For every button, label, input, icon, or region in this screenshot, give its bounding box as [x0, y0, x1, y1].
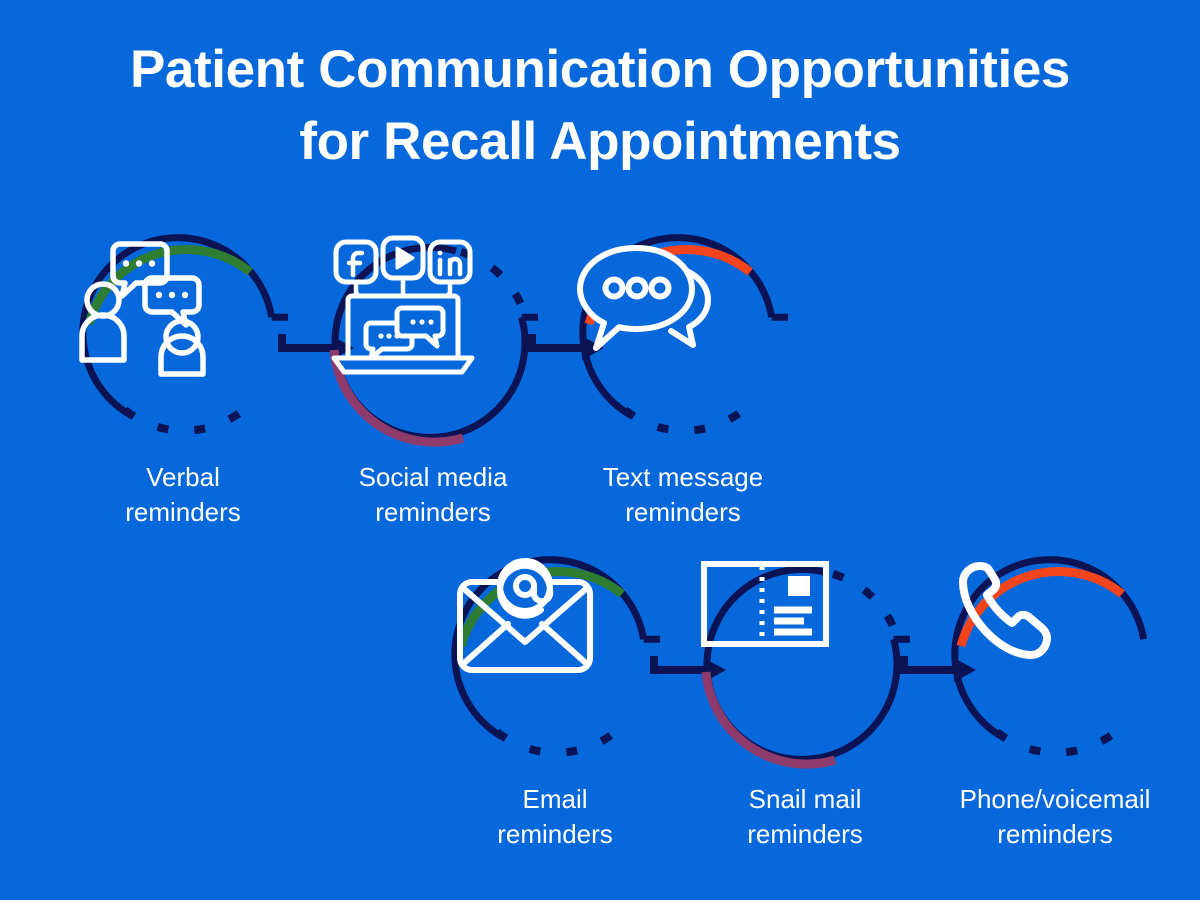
node-label-social-media: Social media reminders	[328, 460, 538, 529]
page-title-line-1: Patient Communication Opportunities	[0, 34, 1200, 106]
icon-laptop-social-badges	[328, 238, 538, 448]
page-title-line-2: for Recall Appointments	[0, 106, 1200, 178]
node-phone-voicemail-reminders[interactable]: Phone/voicemail reminders	[900, 560, 1110, 851]
node-label-verbal: Verbal reminders	[78, 460, 288, 529]
ring-phone-voicemail	[950, 560, 1160, 770]
node-label-email: Email reminders	[450, 782, 660, 851]
ring-email	[450, 560, 660, 770]
node-social-media-reminders[interactable]: Social media reminders	[328, 238, 538, 529]
ring-text-message	[578, 238, 788, 448]
icon-phone-handset	[950, 560, 1160, 770]
node-snail-mail-reminders[interactable]: Snail mail reminders	[700, 560, 910, 851]
icon-people-speech-bubbles	[78, 238, 288, 448]
node-verbal-reminders[interactable]: Verbal reminders	[78, 238, 288, 529]
node-text-message-reminders[interactable]: Text message reminders	[578, 238, 788, 529]
node-label-text-message: Text message reminders	[578, 460, 788, 529]
node-label-phone-voicemail: Phone/voicemail reminders	[925, 782, 1185, 851]
icon-postcard	[700, 560, 910, 770]
icon-chat-bubbles-dots	[578, 238, 788, 448]
node-label-snail-mail: Snail mail reminders	[700, 782, 910, 851]
icon-envelope-at	[450, 560, 660, 770]
ring-snail-mail	[700, 560, 910, 770]
node-email-reminders[interactable]: Email reminders	[450, 560, 660, 851]
page-title: Patient Communication Opportunities for …	[0, 34, 1200, 177]
infographic-canvas: Patient Communication Opportunities for …	[0, 0, 1200, 900]
ring-verbal	[78, 238, 288, 448]
ring-social-media	[328, 238, 538, 448]
